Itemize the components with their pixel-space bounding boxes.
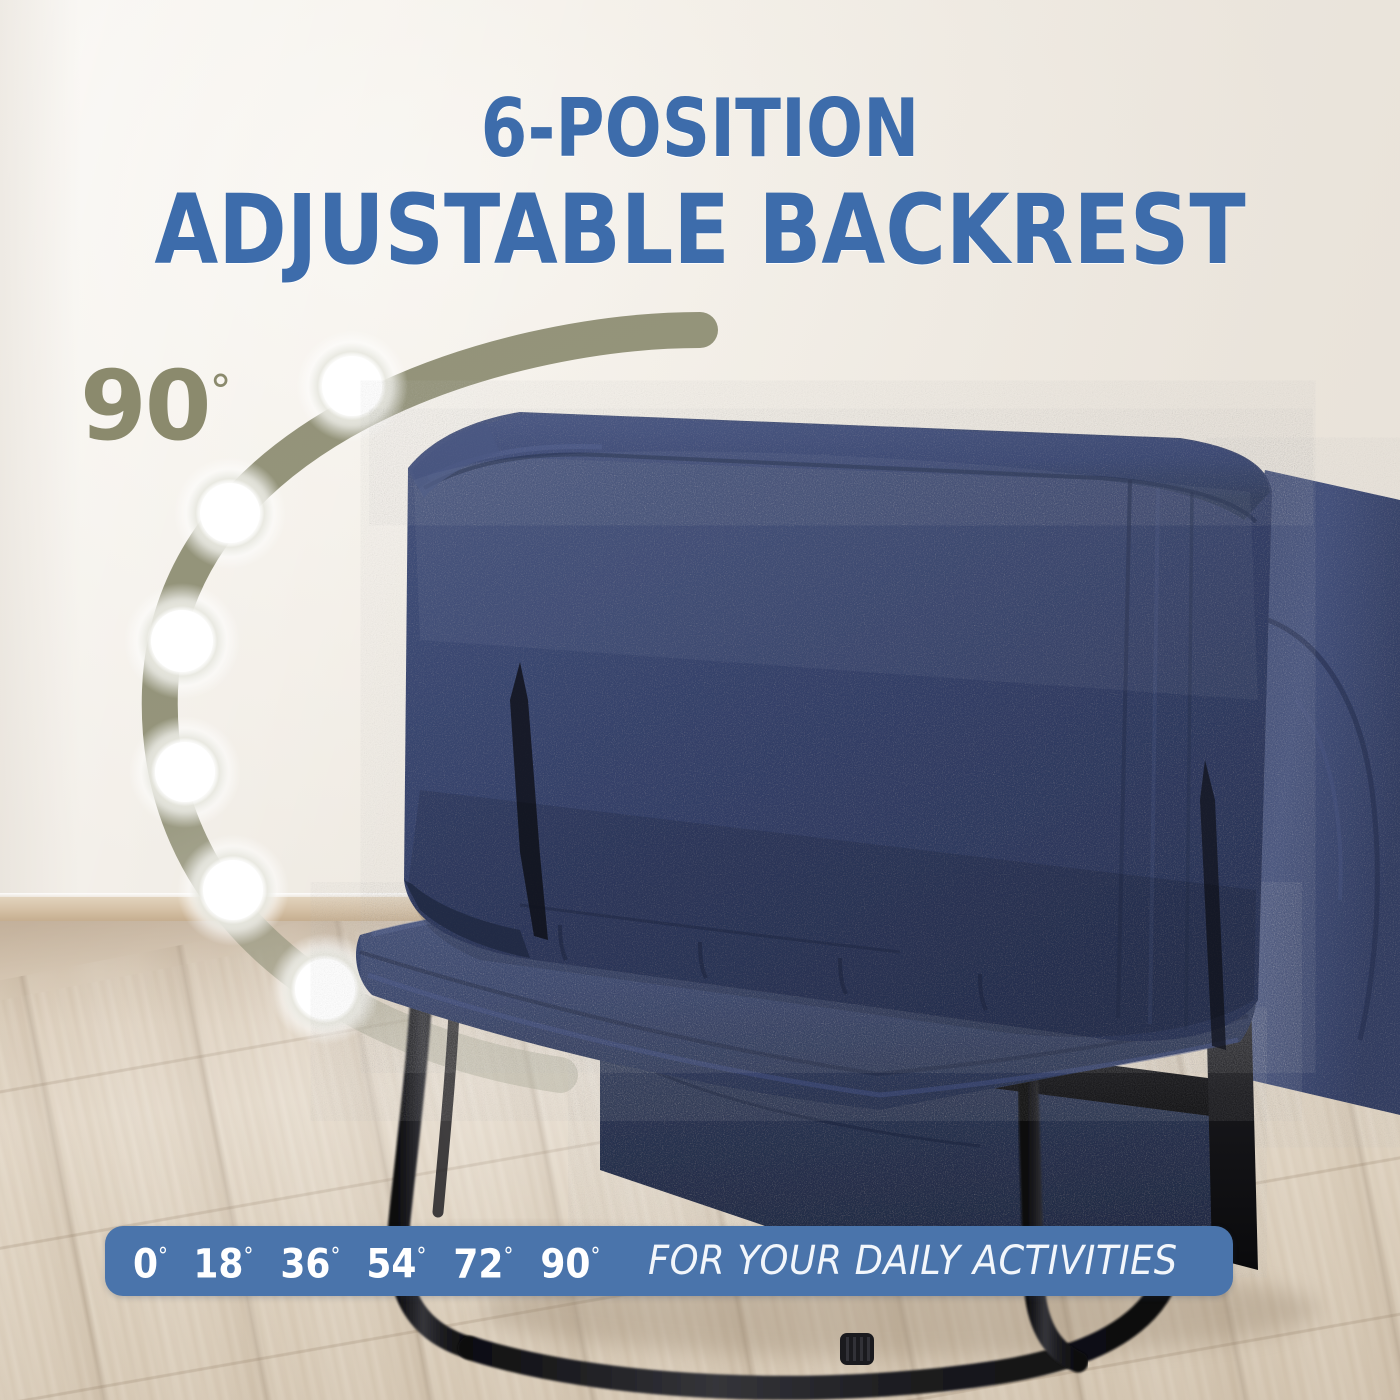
angle-chip-0: 0° xyxy=(133,1237,168,1284)
headline-block: 6-POSITION ADJUSTABLE BACKREST xyxy=(0,86,1400,282)
angle-chip-90: 90° xyxy=(540,1237,600,1284)
headline-line-1: 6-POSITION xyxy=(112,86,1288,172)
banner-tagline: FOR YOUR DAILY ACTIVITIES xyxy=(648,1240,1178,1282)
angle-chip-54: 54° xyxy=(367,1237,427,1284)
angle-values-group: 0° 18° 36° 54° 72° 90° xyxy=(105,1237,623,1284)
max-angle-value: 90 xyxy=(80,350,210,462)
angle-chip-90-value: 90 xyxy=(540,1242,590,1288)
degree-symbol-icon-36: ° xyxy=(330,1244,340,1269)
angle-chip-0-value: 0 xyxy=(133,1242,158,1288)
sofa-leg-left-rail xyxy=(438,992,455,1212)
angle-chip-72-value: 72 xyxy=(453,1242,503,1288)
degree-symbol-icon-54: ° xyxy=(417,1244,427,1269)
product-feature-image: 6-POSITION ADJUSTABLE BACKREST 90° 0° 18… xyxy=(0,0,1400,1400)
angle-chip-18: 18° xyxy=(193,1237,253,1284)
headline-line-2: ADJUSTABLE BACKREST xyxy=(98,178,1302,282)
angle-chip-72: 72° xyxy=(453,1237,513,1284)
angle-chip-36-value: 36 xyxy=(280,1242,330,1288)
degree-symbol-icon-72: ° xyxy=(503,1244,513,1269)
angle-list-banner: 0° 18° 36° 54° 72° 90° FOR YOUR DAILY AC… xyxy=(105,1226,1233,1296)
angle-chip-18-value: 18 xyxy=(193,1242,243,1288)
degree-symbol-icon: ° xyxy=(210,366,232,417)
max-angle-label: 90° xyxy=(80,358,232,454)
degree-symbol-icon-90: ° xyxy=(590,1244,600,1269)
degree-symbol-icon-18: ° xyxy=(243,1244,253,1269)
degree-symbol-icon-0: ° xyxy=(158,1244,168,1269)
angle-chip-36: 36° xyxy=(280,1237,340,1284)
angle-chip-54-value: 54 xyxy=(367,1242,417,1288)
